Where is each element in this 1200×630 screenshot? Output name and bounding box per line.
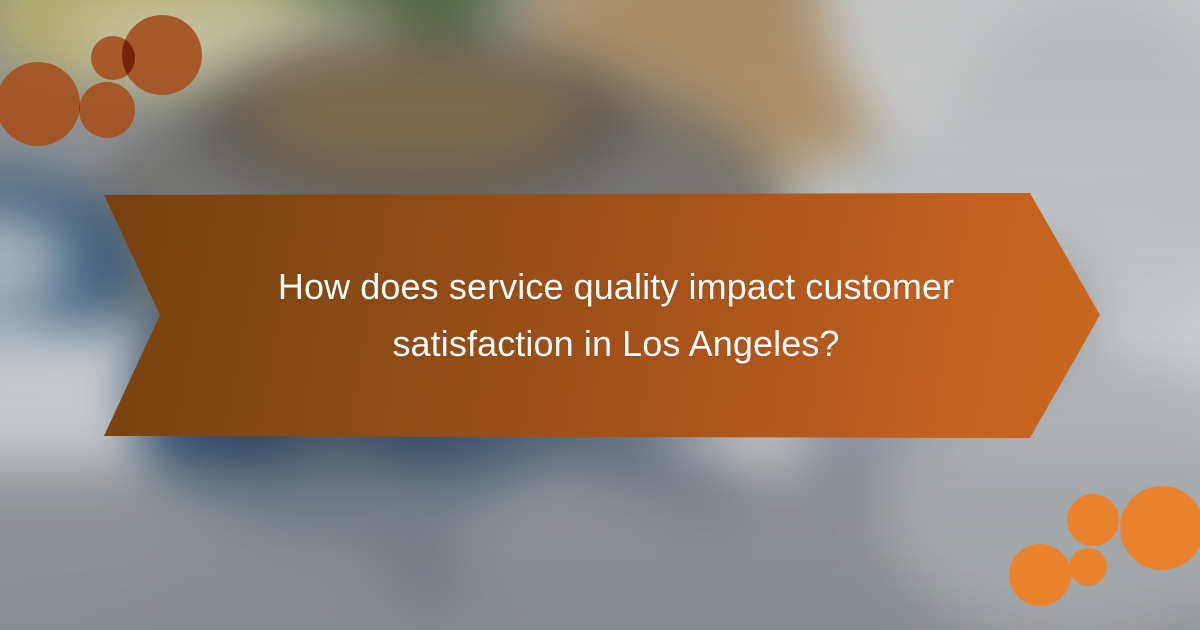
circle-small-striped — [1069, 548, 1107, 586]
headline-banner-inner: How does service quality impact customer… — [232, 259, 972, 373]
circle-large-striped — [0, 62, 80, 146]
circle-large-striped — [1120, 486, 1200, 570]
circle-large-plain — [122, 15, 202, 95]
social-share-card: How does service quality impact customer… — [0, 0, 1200, 630]
page-title: How does service quality impact customer… — [260, 259, 972, 373]
headline-banner: How does service quality impact customer… — [104, 193, 1100, 438]
circle-medium-plain-lower — [1009, 544, 1071, 606]
circle-medium-plain — [79, 82, 135, 138]
circle-medium-plain-upper — [1067, 494, 1119, 546]
